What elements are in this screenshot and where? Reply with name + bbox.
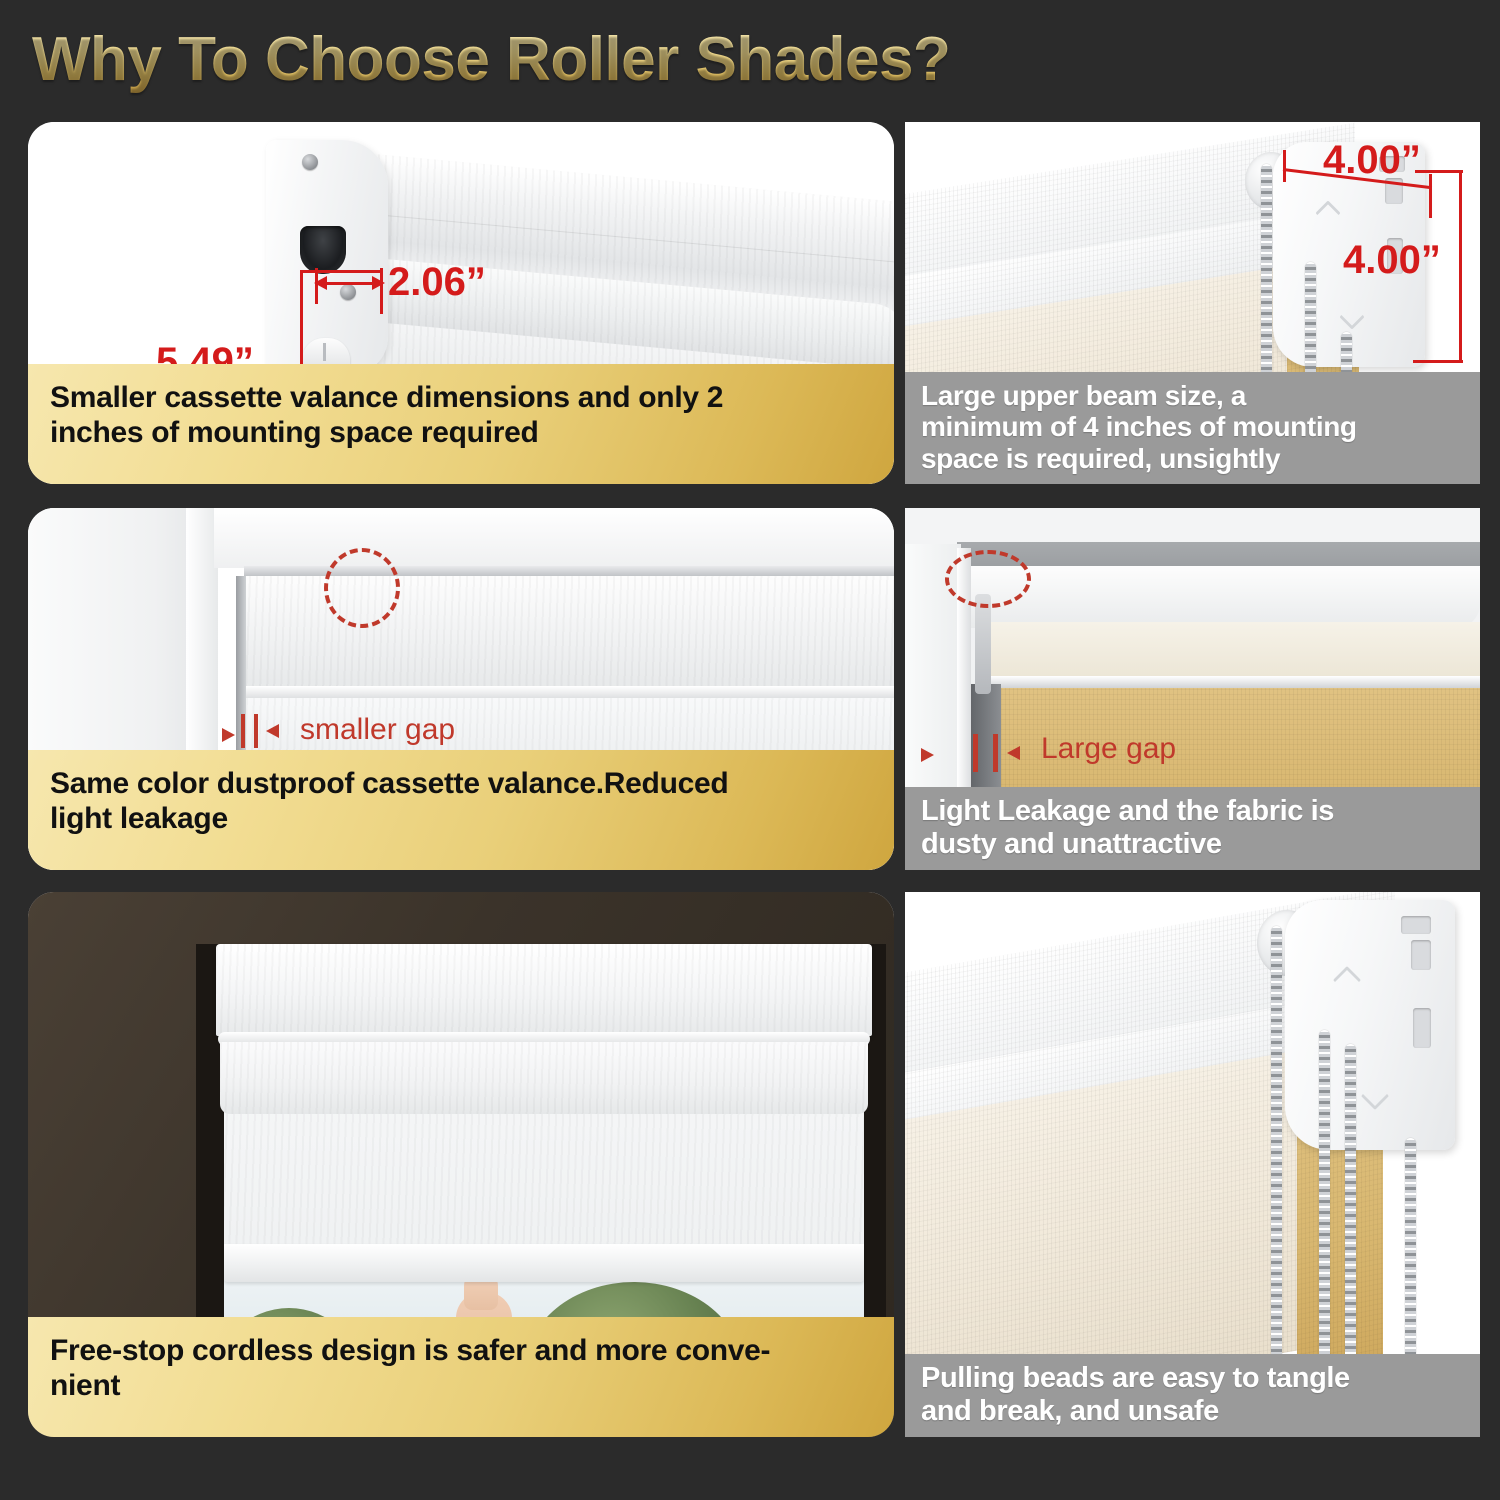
cassette-valance-illustration bbox=[278, 140, 894, 390]
caption-line: Smaller cassette valance dimensions and … bbox=[50, 380, 872, 415]
beam-height-line bbox=[1459, 170, 1462, 362]
height-dim-tick-top bbox=[300, 270, 382, 273]
caption-smaller-gap: Same color dustproof cassette valance.Re… bbox=[28, 750, 894, 870]
header-bar: Why To Choose Roller Shades? bbox=[0, 0, 1500, 112]
large-gap-label: Large gap bbox=[1041, 732, 1176, 766]
caption-line: space is required, unsightly bbox=[921, 443, 1464, 474]
panel-smaller-gap: smaller gap Same color dustproof cassett… bbox=[28, 508, 894, 870]
caption-line: dusty and unattractive bbox=[921, 828, 1464, 860]
caption-line: minimum of 4 inches of mounting bbox=[921, 411, 1464, 442]
roller-beam bbox=[961, 566, 1480, 628]
caption-line: Large upper beam size, a bbox=[921, 380, 1464, 411]
beam-height-tick-bottom bbox=[1413, 360, 1463, 363]
caption-line: Free-stop cordless design is safer and m… bbox=[50, 1333, 872, 1368]
gap-highlight-ellipse bbox=[945, 550, 1031, 608]
upper-wall bbox=[905, 508, 1480, 544]
panel-large-beam: 4.00” 4.00” Large upper beam size, a min… bbox=[905, 122, 1480, 484]
caption-line: nient bbox=[50, 1368, 872, 1403]
gap-highlight-circle bbox=[324, 548, 400, 628]
gap-marker-right bbox=[254, 714, 258, 748]
smaller-gap-label: smaller gap bbox=[300, 713, 455, 747]
beam-width-label: 4.00” bbox=[1323, 138, 1421, 183]
caption-line: inches of mounting space required bbox=[50, 415, 872, 450]
panel-light-leakage: Large gap Light Leakage and the fabric i… bbox=[905, 508, 1480, 870]
caption-line: Same color dustproof cassette valance.Re… bbox=[50, 766, 872, 801]
width-dim-arrow-left bbox=[314, 276, 327, 290]
end-cap-screw-mid bbox=[340, 284, 356, 300]
shade-bottom-rail bbox=[224, 1244, 864, 1282]
caption-cordless-design: Free-stop cordless design is safer and m… bbox=[28, 1317, 894, 1437]
caption-line: and break, and unsafe bbox=[921, 1395, 1464, 1427]
valance-roll-face bbox=[220, 1042, 868, 1114]
caption-line: light leakage bbox=[50, 801, 872, 836]
panel-cassette-dimensions: 2.06” 5.49” Smaller cassette valance dim… bbox=[28, 122, 894, 484]
beam-height-label: 4.00” bbox=[1343, 238, 1441, 283]
width-dimension-label: 2.06” bbox=[388, 260, 486, 305]
large-gap-marker-left bbox=[973, 734, 978, 772]
end-cap-screw-top bbox=[302, 154, 318, 170]
bead-chain-bracket bbox=[1285, 900, 1455, 1150]
caption-cassette-dimensions: Smaller cassette valance dimensions and … bbox=[28, 364, 894, 484]
valance-end-cap bbox=[266, 140, 388, 375]
caption-line: Pulling beads are easy to tangle bbox=[921, 1362, 1464, 1394]
page-title: Why To Choose Roller Shades? bbox=[32, 24, 950, 95]
window-frame-top bbox=[214, 508, 894, 568]
cream-valance bbox=[991, 622, 1480, 678]
caption-light-leakage: Light Leakage and the fabric is dusty an… bbox=[905, 787, 1480, 870]
beam-width-tick-right bbox=[1429, 174, 1432, 218]
end-cap-socket bbox=[300, 226, 346, 274]
caption-large-beam: Large upper beam size, a minimum of 4 in… bbox=[905, 372, 1480, 484]
width-dim-arrow-right bbox=[372, 276, 385, 290]
gap-marker-left bbox=[241, 714, 245, 748]
cassette-valance-housing bbox=[216, 944, 872, 1036]
width-dim-tick-right bbox=[380, 268, 383, 314]
caption-pulling-beads: Pulling beads are easy to tangle and bre… bbox=[905, 1354, 1480, 1437]
panel-pulling-beads: Pulling beads are easy to tangle and bre… bbox=[905, 892, 1480, 1437]
beam-width-tick-left bbox=[1283, 150, 1286, 182]
beam-height-tick-top bbox=[1415, 170, 1463, 173]
roller-mount-clip bbox=[975, 594, 991, 694]
caption-line: Light Leakage and the fabric is bbox=[921, 795, 1464, 827]
large-gap-marker-right bbox=[993, 734, 998, 772]
panel-cordless-design: Free-stop cordless design is safer and m… bbox=[28, 892, 894, 1437]
